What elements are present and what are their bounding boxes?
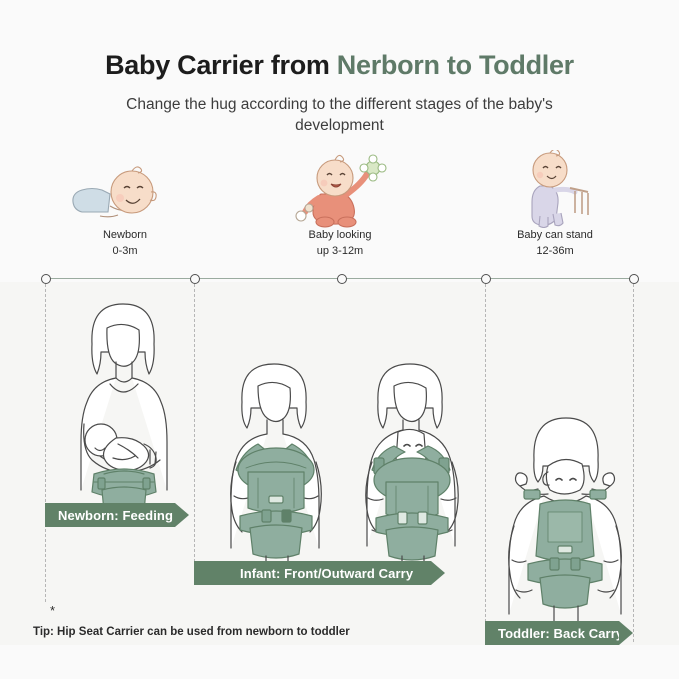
banner-toddler-back-label: Toddler: Back Carry [498,626,623,641]
stage-standing-line2: 12-36m [470,244,640,260]
timeline-tick-4 [481,274,491,284]
stage-newborn-caption: Newborn 0-3m [40,228,210,259]
stage-standing: Baby can stand 12-36m [470,150,640,259]
banner-infant-front[interactable]: Infant: Front/Outward Carry [194,561,431,585]
divider-dash-3 [485,284,486,642]
timeline-tick-1 [41,274,51,284]
stage-newborn-line1: Newborn [40,228,210,244]
tip-text: Tip: Hip Seat Carrier can be used from n… [33,626,350,638]
stage-newborn: Newborn 0-3m [40,150,210,259]
page-title: Baby Carrier from Nerborn to Toddler [0,0,679,81]
banner-arrow-tip-icon [175,503,189,527]
banner-toddler-back[interactable]: Toddler: Back Carry [485,621,619,645]
banner-newborn-feeding-label: Newborn: Feeding [58,508,173,523]
figure-infant-outward [348,358,476,570]
header: Baby Carrier from Nerborn to Toddler Cha… [0,0,679,137]
banner-arrow-tip-icon [431,561,445,585]
timeline-tick-3 [337,274,347,284]
stage-looking: Baby looking up 3-12m [255,150,425,259]
figure-infant-front [212,358,340,570]
page-subtitle: Change the hug according to the differen… [105,81,575,137]
baby-lying-icon [40,150,210,228]
timeline-tick-2 [190,274,200,284]
stage-standing-line1: Baby can stand [470,228,640,244]
divider-dash-1 [45,284,46,602]
infographic-page: Baby Carrier from Nerborn to Toddler Cha… [0,0,679,679]
figure-toddler-back [500,408,630,623]
stage-looking-line2: up 3-12m [255,244,425,260]
stage-standing-caption: Baby can stand 12-36m [470,228,640,259]
stage-looking-line1: Baby looking [255,228,425,244]
banner-arrow-tip-icon [619,621,633,645]
banner-infant-front-label: Infant: Front/Outward Carry [240,566,413,581]
stage-newborn-line2: 0-3m [40,244,210,260]
divider-dash-4 [633,284,634,642]
banner-newborn-feeding[interactable]: Newborn: Feeding [45,503,175,527]
page-title-accent: Nerborn to Toddler [337,50,574,80]
tip-asterisk: * [50,603,55,618]
figure-newborn-feeding [58,292,188,522]
page-title-plain: Baby Carrier from [105,50,337,80]
divider-dash-2 [194,284,195,582]
baby-sitting-rattle-icon [255,150,425,228]
baby-standing-icon [470,150,640,228]
timeline-tick-5 [629,274,639,284]
stage-looking-caption: Baby looking up 3-12m [255,228,425,259]
